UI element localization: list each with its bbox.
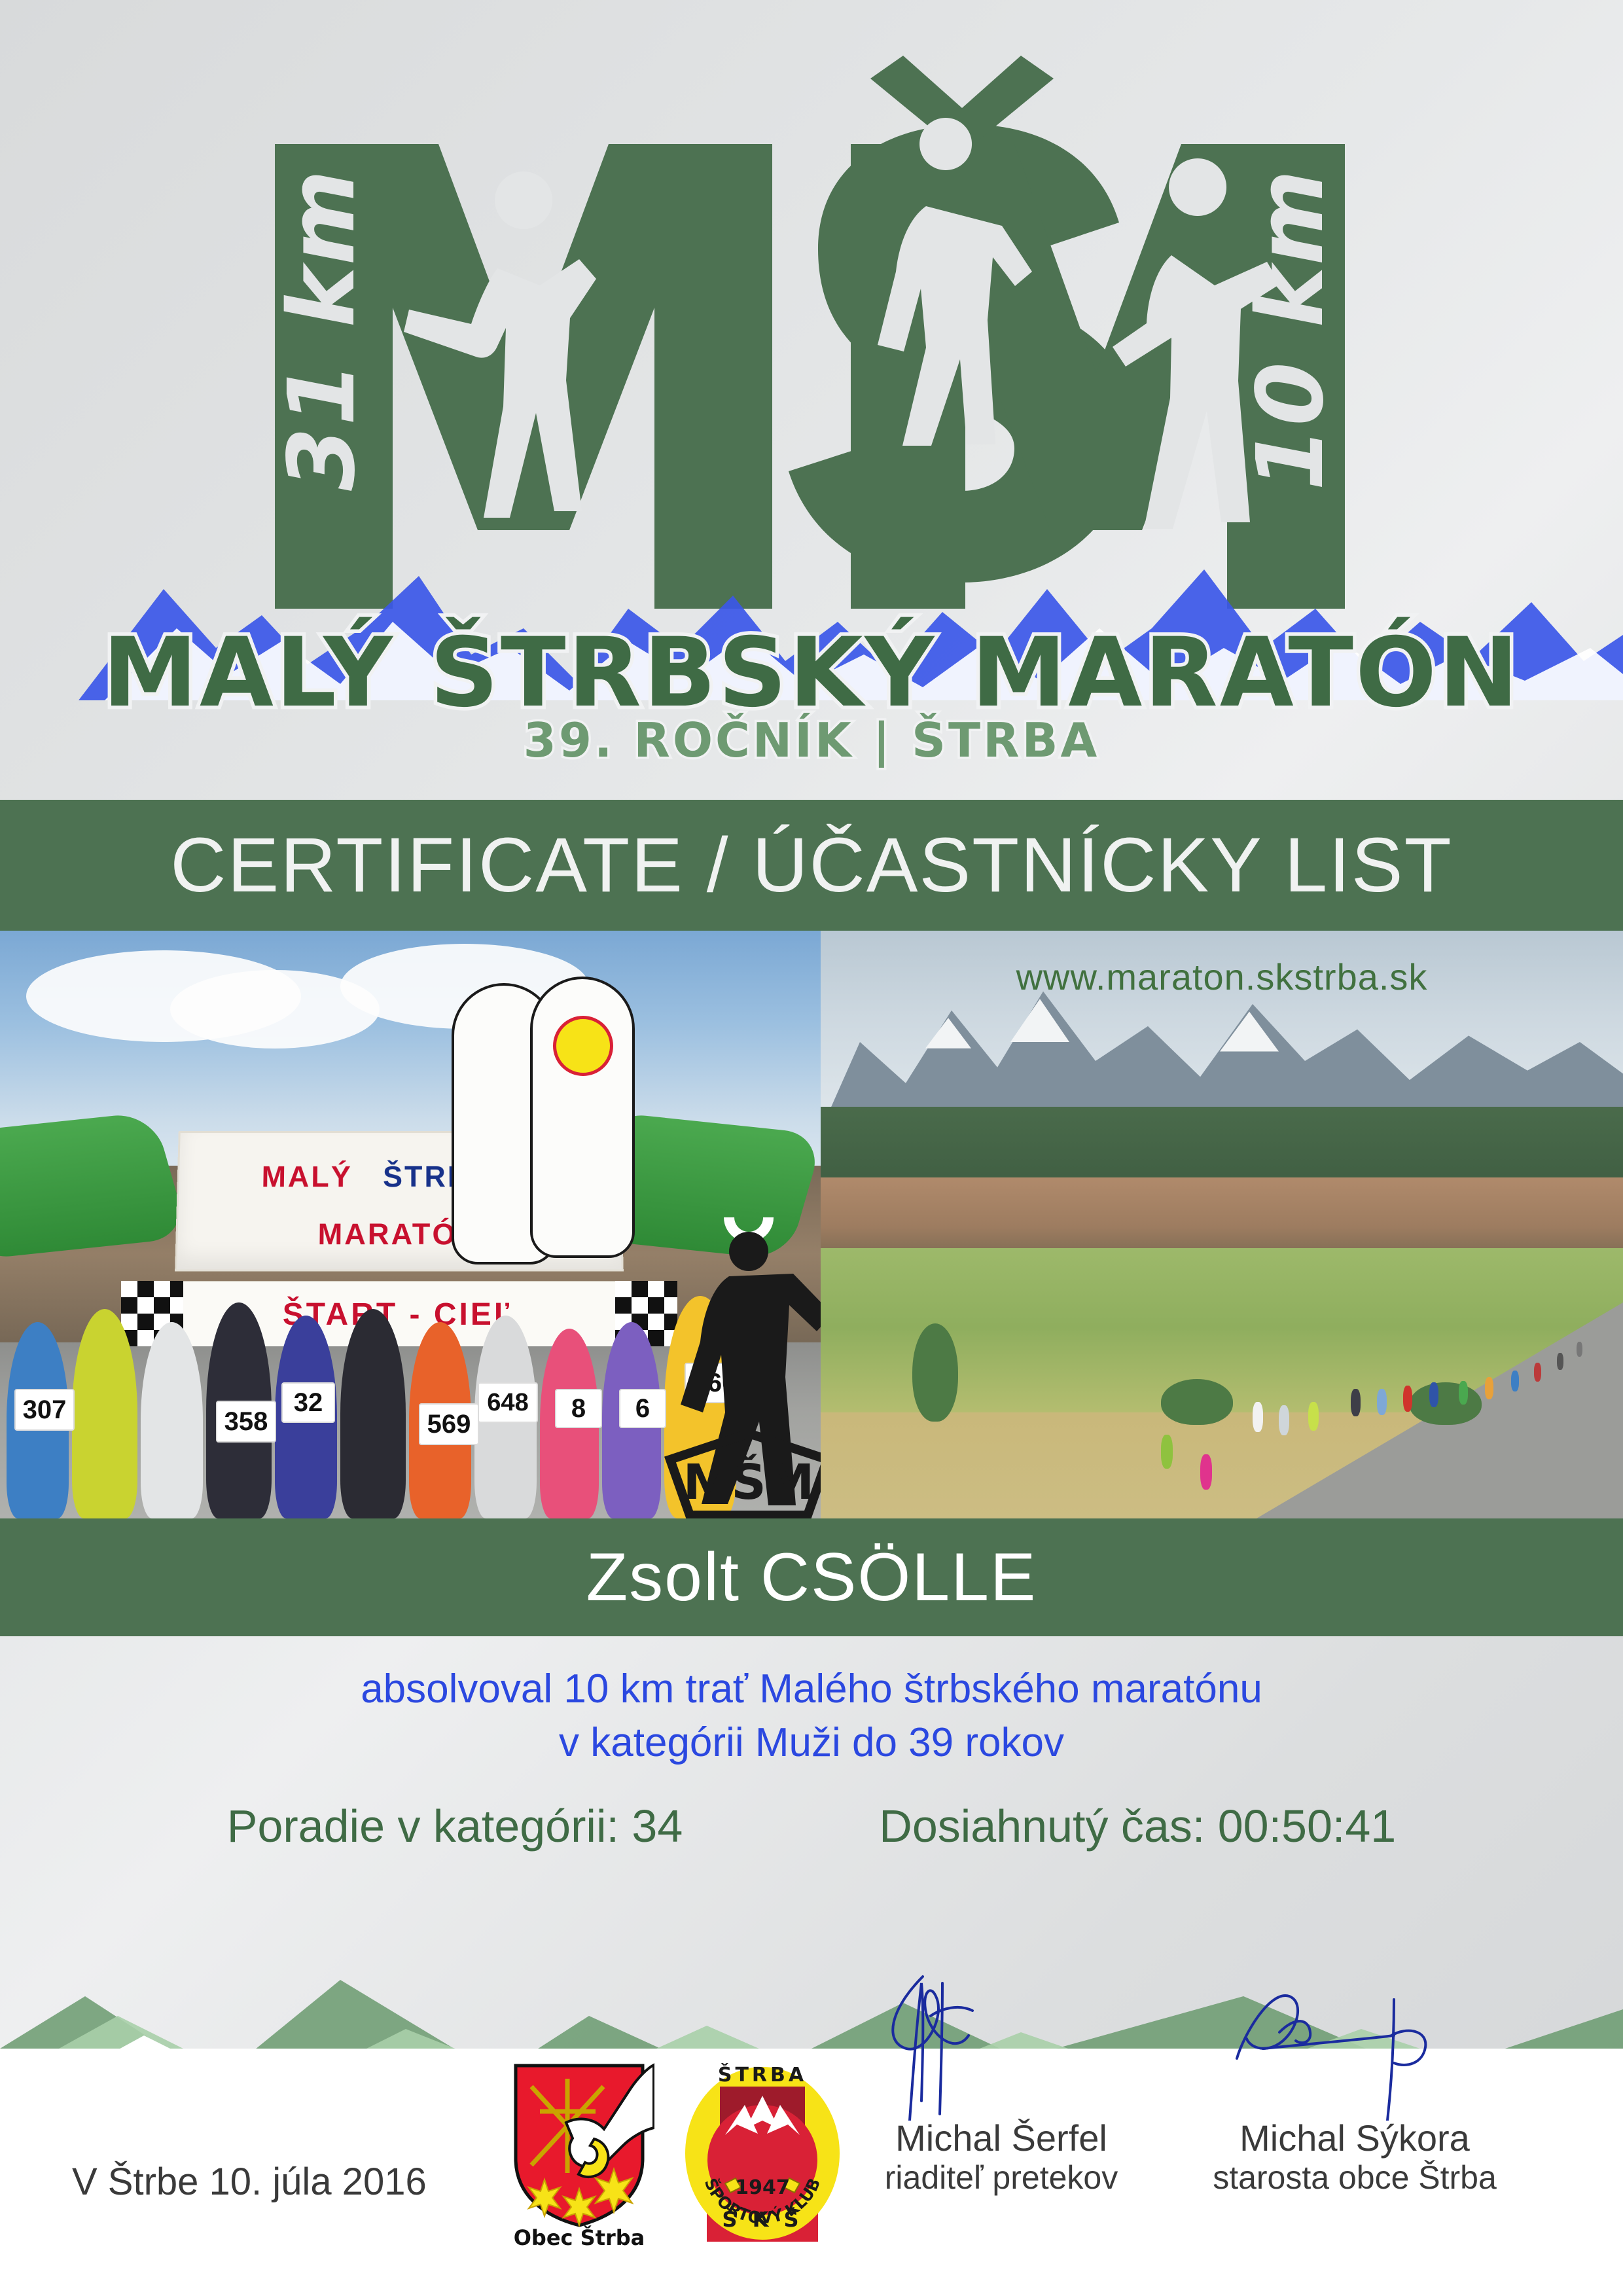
photo-start-line: MALÝ ŠTRBSKÝ MARATÓN ŠTART - CIEĽ: [0, 931, 821, 1518]
issue-date: V Štrbe 10. júla 2016: [72, 2160, 427, 2204]
photo-course-landscape: www.maraton.skstrba.sk: [821, 931, 1623, 1518]
participant-name: Zsolt CSÖLLE: [586, 1539, 1037, 1617]
header-logo-area: 31 km 10 km MALÝ ŠTRBSKÝ MARATÓN 39. ROČ…: [0, 0, 1623, 800]
arch-word-maly: MALÝ: [261, 1160, 353, 1193]
runner-bib: 569: [419, 1403, 479, 1445]
runner: [141, 1322, 203, 1518]
sks-logo-icon: [553, 1016, 613, 1076]
runner: [1253, 1402, 1263, 1432]
result-body: absolvoval 10 km trať Malého štrbského m…: [0, 1636, 1623, 1937]
certificate-banner: CERTIFICATE / ÚČASTNÍCKY LIST: [0, 800, 1623, 931]
runner: [1279, 1405, 1289, 1435]
participant-name-banner: Zsolt CSÖLLE: [0, 1518, 1623, 1636]
runner: [1403, 1386, 1412, 1412]
msm-runner-sticker-icon: MŠM: [651, 1217, 821, 1518]
signature-icon: [844, 1970, 1158, 2121]
category-rank: Poradie v kategórii: 34: [227, 1800, 683, 1852]
runner: [1459, 1381, 1468, 1405]
finish-time: Dosiahnutý čas: 00:50:41: [879, 1800, 1396, 1852]
runner-bib: 648: [478, 1382, 538, 1423]
distance-left: 31 km: [269, 168, 376, 491]
arch-leg-left: [0, 1111, 189, 1260]
obec-strba-caption: Obec Štrba: [514, 2225, 645, 2250]
signature-name: Michal Sýkora: [1198, 2118, 1512, 2159]
runner: [1161, 1435, 1173, 1469]
description-line-1: absolvoval 10 km trať Malého štrbského m…: [0, 1662, 1623, 1716]
footer: V Štrbe 10. júla 2016 Obec Štrba: [0, 2049, 1623, 2296]
signature-block-mayor: Michal Sýkora starosta obce Štrba: [1198, 1970, 1512, 2197]
signature-role: riaditeľ pretekov: [844, 2159, 1158, 2197]
bush-icon: [1161, 1379, 1233, 1425]
runner: [1351, 1389, 1361, 1416]
obec-strba-crest-icon: Obec Štrba: [504, 2060, 654, 2250]
signature-role: starosta obce Štrba: [1198, 2159, 1512, 2197]
runner: [1534, 1363, 1541, 1382]
runner-bib: 8: [555, 1389, 602, 1428]
website-url[interactable]: www.maraton.skstrba.sk: [821, 956, 1623, 998]
certificate-banner-text: CERTIFICATE / ÚČASTNÍCKY LIST: [170, 821, 1452, 910]
sks-top-text: ŠTRBA: [718, 2062, 807, 2087]
runner-bib: 32: [281, 1382, 335, 1423]
runner: [1429, 1382, 1438, 1407]
inflatable-start-arch: MALÝ ŠTRBSKÝ MARATÓN ŠTART - CIEĽ: [0, 1029, 753, 1238]
svg-text:31 km: 31 km: [269, 168, 376, 491]
sks-club-logo-icon: ŠTRBA 1947 Š K Š ŠPORTOVÝ KLUB: [681, 2055, 844, 2251]
runner: [1557, 1353, 1563, 1370]
certificate-page: 31 km 10 km MALÝ ŠTRBSKÝ MARATÓN 39. ROČ…: [0, 0, 1623, 2296]
msm-logo: 31 km 10 km: [157, 33, 1466, 622]
msm-logo-svg: 31 km 10 km: [157, 33, 1466, 622]
runner-bib: 358: [216, 1401, 276, 1443]
runner: [1577, 1342, 1582, 1357]
runner: [1485, 1377, 1493, 1399]
runner: [340, 1309, 406, 1518]
runner: [72, 1309, 137, 1518]
runner: [1308, 1402, 1319, 1431]
runner: [1200, 1454, 1212, 1490]
runner: [1377, 1389, 1387, 1415]
signature-block-director: Michal Šerfel riaditeľ pretekov: [844, 1970, 1158, 2197]
description-line-2: v kategórii Muži do 39 rokov: [0, 1716, 1623, 1770]
msm-sticker-label: MŠM: [683, 1453, 815, 1511]
achievement-description: absolvoval 10 km trať Malého štrbského m…: [0, 1662, 1623, 1770]
signature-name: Michal Šerfel: [844, 2118, 1158, 2159]
tree-icon: [912, 1323, 958, 1422]
runner-bib: 307: [14, 1389, 75, 1431]
distance-right: 10 km: [1238, 168, 1344, 491]
signature-icon: [1198, 1970, 1512, 2121]
runner: [1511, 1371, 1519, 1391]
svg-text:10 km: 10 km: [1238, 168, 1344, 491]
race-subtitle: 39. ROČNÍK | ŠTRBA: [0, 717, 1623, 764]
bush-icon: [1410, 1382, 1482, 1425]
sks-year: 1947: [735, 2176, 790, 2199]
result-stats: Poradie v kategórii: 34 Dosiahnutý čas: …: [0, 1800, 1623, 1852]
photo-strip: MALÝ ŠTRBSKÝ MARATÓN ŠTART - CIEĽ: [0, 931, 1623, 1518]
race-title: MALÝ ŠTRBSKÝ MARATÓN: [0, 625, 1623, 721]
